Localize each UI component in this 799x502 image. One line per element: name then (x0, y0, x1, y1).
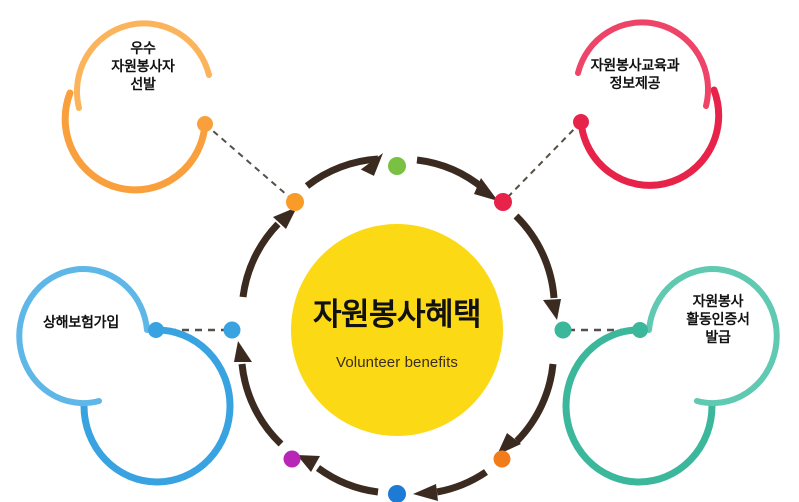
arrow-arc-orange-lower-to-blue (437, 472, 486, 492)
connector-top-left (205, 124, 295, 202)
teal-dot (555, 322, 572, 339)
satellite-anchor-dot-top-right (573, 114, 589, 130)
satellite-outer-arc-top-left (65, 93, 205, 190)
orange-dot-upper (286, 193, 304, 211)
orange-dot-lower (494, 451, 511, 468)
blue-dot-bottom (388, 485, 406, 502)
satellite-ring-top-left[interactable] (65, 23, 213, 189)
satellite-outer-arc-left (84, 330, 230, 482)
satellite-inner-arc-top-left (77, 23, 209, 108)
diagram-canvas: 우수 자원봉사자 선발 자원봉사교육과 정보제공 상해보험가입 자원봉사 활동인… (0, 0, 799, 502)
satellite-inner-arc-top-right (578, 22, 708, 106)
satellite-ring-left[interactable] (19, 269, 230, 482)
arrow-arc-crimson-to-teal (516, 216, 554, 298)
hub-circle (291, 224, 503, 436)
arrow-arc-teal-to-orange-lower (517, 364, 553, 441)
arrowhead-to-teal (543, 299, 561, 320)
satellite-inner-arc-left (19, 269, 147, 403)
satellite-ring-top-right[interactable] (573, 22, 719, 185)
arrow-arc-blue-to-purple (318, 468, 378, 492)
arrow-arc-green-to-crimson (417, 160, 484, 189)
arrow-arc-purple-to-blue-left (242, 364, 281, 444)
crimson-dot (494, 193, 512, 211)
satellite-anchor-dot-top-left (197, 116, 213, 132)
arrowhead-to-purple (297, 455, 320, 472)
satellite-ring-right[interactable] (566, 269, 777, 482)
satellite-outer-arc-right (566, 330, 712, 482)
satellite-inner-arc-right (649, 269, 777, 403)
arrowhead-to-blue-left (234, 341, 252, 362)
arrowhead-to-blue-bottom (413, 484, 438, 501)
connector-top-right (503, 122, 581, 202)
satellite-outer-arc-top-right (581, 90, 719, 185)
arrow-arc-blue-left-to-orange-upper (243, 224, 278, 297)
diagram-svg (0, 0, 799, 502)
green-dot (388, 157, 406, 175)
purple-dot (284, 451, 301, 468)
blue-dot-left (224, 322, 241, 339)
satellite-anchor-dot-right (632, 322, 648, 338)
satellite-anchor-dot-left (148, 322, 164, 338)
